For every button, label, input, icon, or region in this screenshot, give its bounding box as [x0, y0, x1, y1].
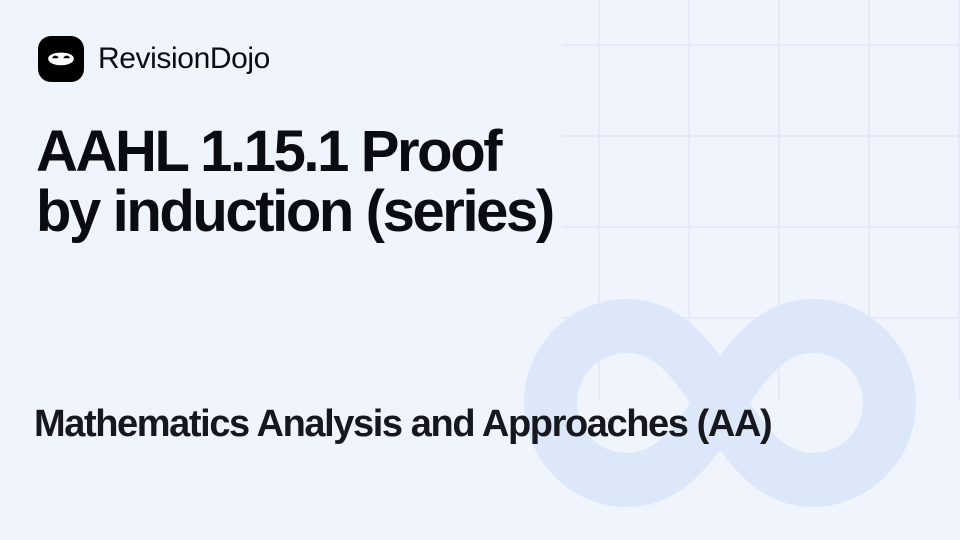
- ninja-mask-icon: [38, 36, 84, 82]
- subject-label: Mathematics Analysis and Approaches (AA): [34, 405, 934, 445]
- brand-lockup: RevisionDojo: [38, 36, 270, 82]
- slide-content: RevisionDojo AAHL 1.15.1 Proof by induct…: [0, 0, 960, 540]
- page-title: AAHL 1.15.1 Proof by induction (series): [36, 122, 576, 243]
- brand-name: RevisionDojo: [98, 44, 270, 74]
